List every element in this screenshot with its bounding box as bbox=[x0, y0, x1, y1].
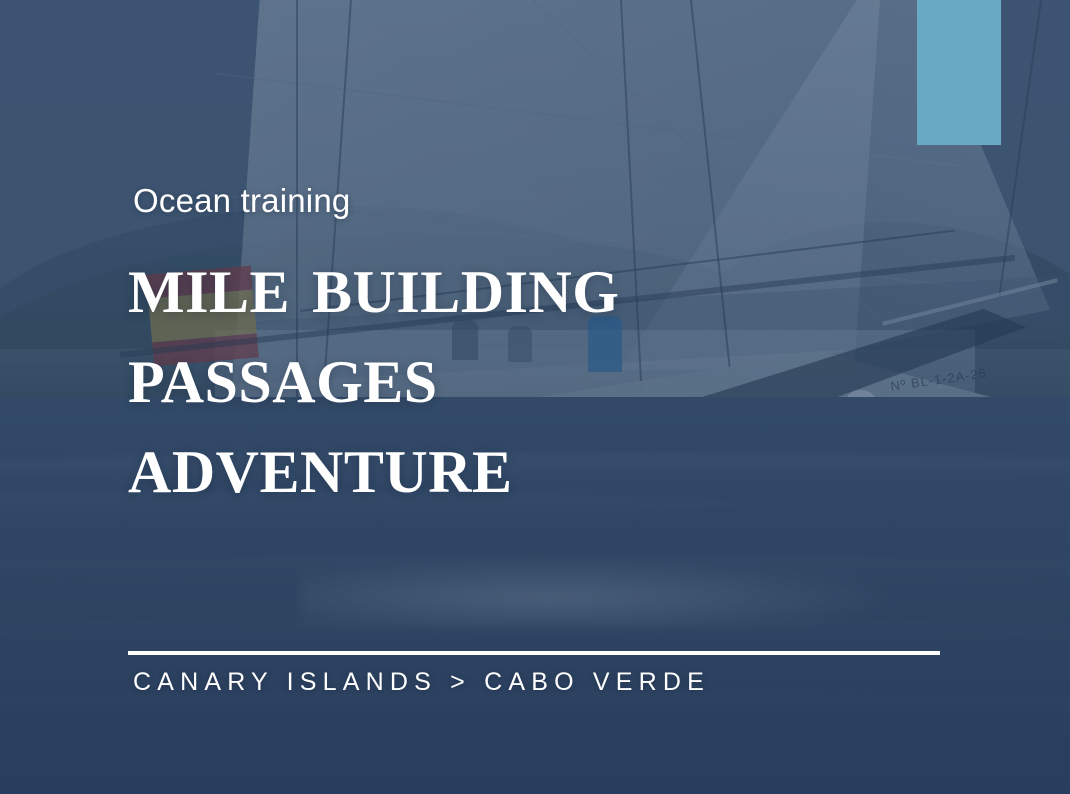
poster-content: Ocean training Mile Building Passages Ad… bbox=[128, 0, 958, 794]
headline-line-2: Passages bbox=[128, 328, 619, 418]
headline-line-3: Adventure bbox=[128, 418, 619, 508]
poster-canvas: Nº BL-1-2A-25 Ocean training Mile Buildi… bbox=[0, 0, 1070, 794]
headline-line-1: Mile Building bbox=[128, 238, 619, 328]
divider-rule bbox=[128, 651, 940, 655]
route-caption: CANARY ISLANDS > CABO VERDE bbox=[133, 668, 710, 697]
page-title: Mile Building Passages Adventure bbox=[128, 238, 619, 508]
eyebrow-text: Ocean training bbox=[133, 182, 350, 220]
